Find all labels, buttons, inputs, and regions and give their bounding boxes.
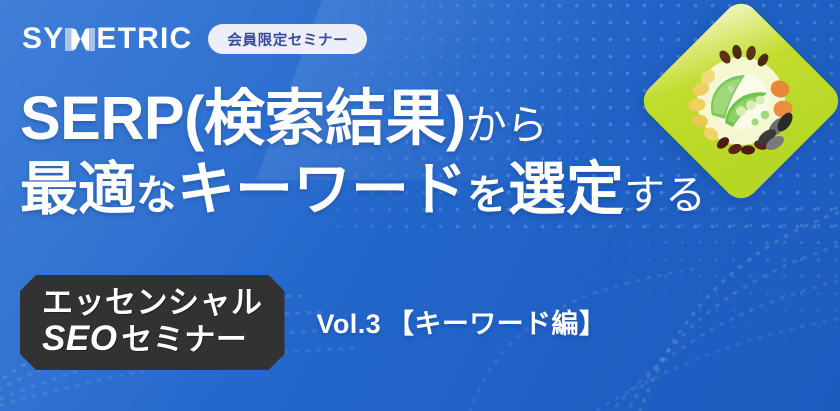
symetric-m-mark-icon [65, 28, 95, 51]
logo-text-after: ETRIC [96, 24, 192, 54]
members-only-badge: 会員限定セミナー [208, 24, 367, 54]
headline-line1-suffix: から [466, 105, 548, 146]
headline-line2-part3: キーワード [177, 161, 467, 219]
headline-line2-part5: 選定 [508, 161, 624, 219]
banner-footer: エッセンシャル SEO セミナー Vol.3 【キーワード編】 [20, 275, 606, 370]
volume-number: Vol.3 [317, 309, 382, 340]
headline-line2-part1: 最適 [20, 161, 136, 219]
seminar-banner: SY ETRIC 会員限定セミナー SERP(検索結果) から 最適 な キーワ… [0, 0, 840, 411]
volume-label: Vol.3 【キーワード編】 [317, 302, 607, 343]
logo-text-before: SY [22, 24, 64, 54]
brand-logo: SY ETRIC [22, 24, 192, 54]
volume-topic: 【キーワード編】 [387, 302, 606, 341]
headline-line-1: SERP(検索結果) から [20, 88, 706, 149]
series-seminar-label: セミナー [121, 324, 247, 357]
headline-line-2: 最適 な キーワード を 選定 する [20, 161, 706, 219]
series-title-line1: エッセンシャル [42, 287, 263, 320]
headline-line2-part6: する [624, 175, 706, 216]
series-seo-label: SEO [42, 320, 117, 357]
headline: SERP(検索結果) から 最適 な キーワード を 選定 する [20, 88, 706, 219]
headline-line2-part2: な [136, 175, 177, 216]
headline-line2-part4: を [467, 175, 508, 216]
series-title-line2: SEO セミナー [42, 320, 263, 357]
headline-line1-main: SERP(検索結果) [20, 88, 466, 149]
banner-header: SY ETRIC 会員限定セミナー [22, 24, 367, 54]
series-title-box: エッセンシャル SEO セミナー [20, 275, 285, 370]
